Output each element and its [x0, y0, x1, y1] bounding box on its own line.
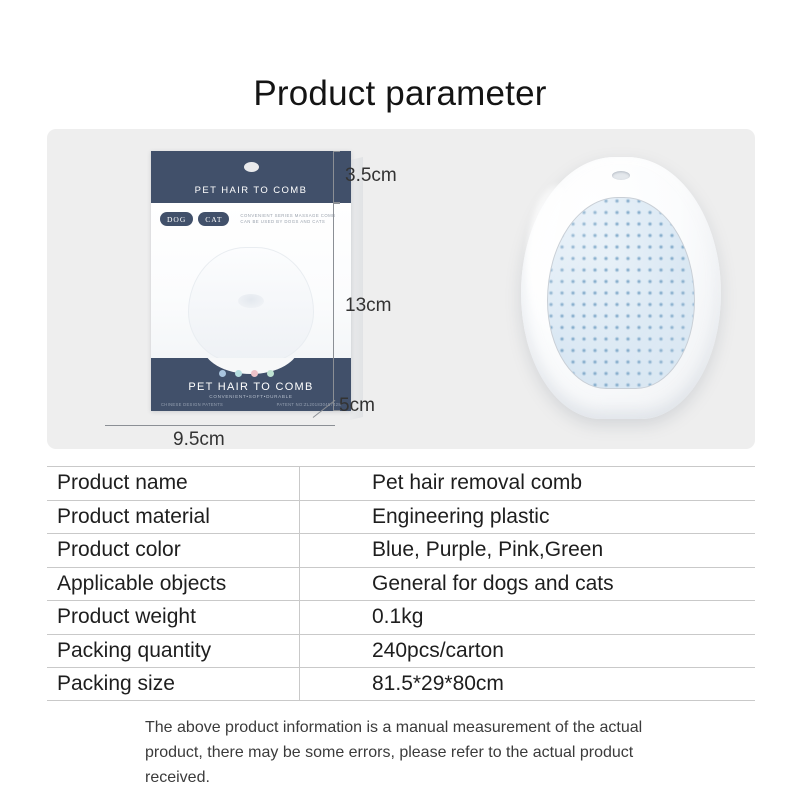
box-bottom-subtitle: CONVENIENT•SOFT•DURABLE: [151, 394, 351, 399]
spec-key: Applicable objects: [47, 568, 300, 601]
box-bottom-title: PET HAIR TO COMB: [151, 381, 351, 393]
badge-cat: CAT: [198, 212, 229, 226]
box-bottom-panel: PET HAIR TO COMB CONVENIENT•SOFT•DURABLE…: [151, 358, 351, 411]
dimension-label-width: 9.5cm: [173, 429, 225, 451]
table-row: Applicable objects General for dogs and …: [47, 567, 755, 601]
comb-bristle-pad: [547, 197, 695, 389]
box-front-face: PET HAIR TO COMB DOG CAT CONVENIENT SERI…: [151, 151, 351, 411]
comb-body: [521, 157, 721, 419]
box-top-title: PET HAIR TO COMB: [195, 185, 308, 196]
box-printed-comb-graphic: [188, 247, 314, 363]
page-title: Product parameter: [0, 74, 800, 114]
legal-left-text: CHINESE DESIGN PATENTS: [161, 402, 223, 407]
dimension-label-height-main: 13cm: [345, 295, 391, 317]
table-row: Packing quantity 240pcs/carton: [47, 634, 755, 668]
badge-note-line-2: CAN BE USED BY DOGS AND CATS: [240, 219, 335, 225]
box-badges: DOG CAT CONVENIENT SERIES MASSAGE COMB C…: [160, 212, 336, 226]
badge-dog: DOG: [160, 212, 193, 226]
table-row: Packing size 81.5*29*80cm: [47, 667, 755, 701]
product-parameter-page: Product parameter PET HAIR TO COMB DOG C…: [0, 0, 800, 800]
spec-value: 0.1kg: [300, 605, 755, 629]
spec-key: Product color: [47, 534, 300, 567]
comb-hang-hole-icon: [612, 171, 630, 180]
spec-key: Packing size: [47, 668, 300, 700]
box-badge-note: CONVENIENT SERIES MASSAGE COMB CAN BE US…: [240, 213, 335, 226]
hang-hole-icon: [244, 162, 259, 172]
spec-value: General for dogs and cats: [300, 572, 755, 596]
disclaimer-text: The above product information is a manua…: [145, 716, 675, 790]
spec-value: Pet hair removal comb: [300, 471, 755, 495]
product-image-panel: PET HAIR TO COMB DOG CAT CONVENIENT SERI…: [47, 129, 755, 449]
dimension-line-width: [105, 425, 335, 426]
dimension-bracket-main: [333, 203, 340, 411]
spec-value: 240pcs/carton: [300, 639, 755, 663]
dimension-bracket-top: [333, 151, 340, 203]
box-front-middle: DOG CAT CONVENIENT SERIES MASSAGE COMB C…: [151, 203, 351, 358]
spec-table: Product name Pet hair removal comb Produ…: [47, 466, 755, 701]
dimension-label-height-top: 3.5cm: [345, 165, 397, 187]
box-top-panel: PET HAIR TO COMB: [151, 151, 351, 203]
color-variant-dots: [219, 370, 274, 377]
table-row: Product color Blue, Purple, Pink,Green: [47, 533, 755, 567]
spec-key: Product weight: [47, 601, 300, 634]
spec-key: Product material: [47, 501, 300, 534]
spec-key: Packing quantity: [47, 635, 300, 668]
comb-pad-sheen: [547, 197, 695, 389]
color-dot-pink: [251, 370, 258, 377]
dimension-label-depth: 5cm: [339, 395, 375, 417]
spec-key: Product name: [47, 467, 300, 500]
color-dot-green: [267, 370, 274, 377]
table-row: Product weight 0.1kg: [47, 600, 755, 634]
box-legal-line: CHINESE DESIGN PATENTS PATENT NO:ZL20183…: [161, 402, 341, 407]
color-dot-teal: [235, 370, 242, 377]
table-row: Product material Engineering plastic: [47, 500, 755, 534]
spec-value: Blue, Purple, Pink,Green: [300, 538, 755, 562]
table-row: Product name Pet hair removal comb: [47, 466, 755, 500]
box-depth-face: [350, 157, 363, 420]
product-photo: [499, 147, 743, 431]
spec-value: 81.5*29*80cm: [300, 672, 755, 696]
packaging-box-illustration: PET HAIR TO COMB DOG CAT CONVENIENT SERI…: [107, 151, 367, 423]
spec-value: Engineering plastic: [300, 505, 755, 529]
color-dot-blue: [219, 370, 226, 377]
